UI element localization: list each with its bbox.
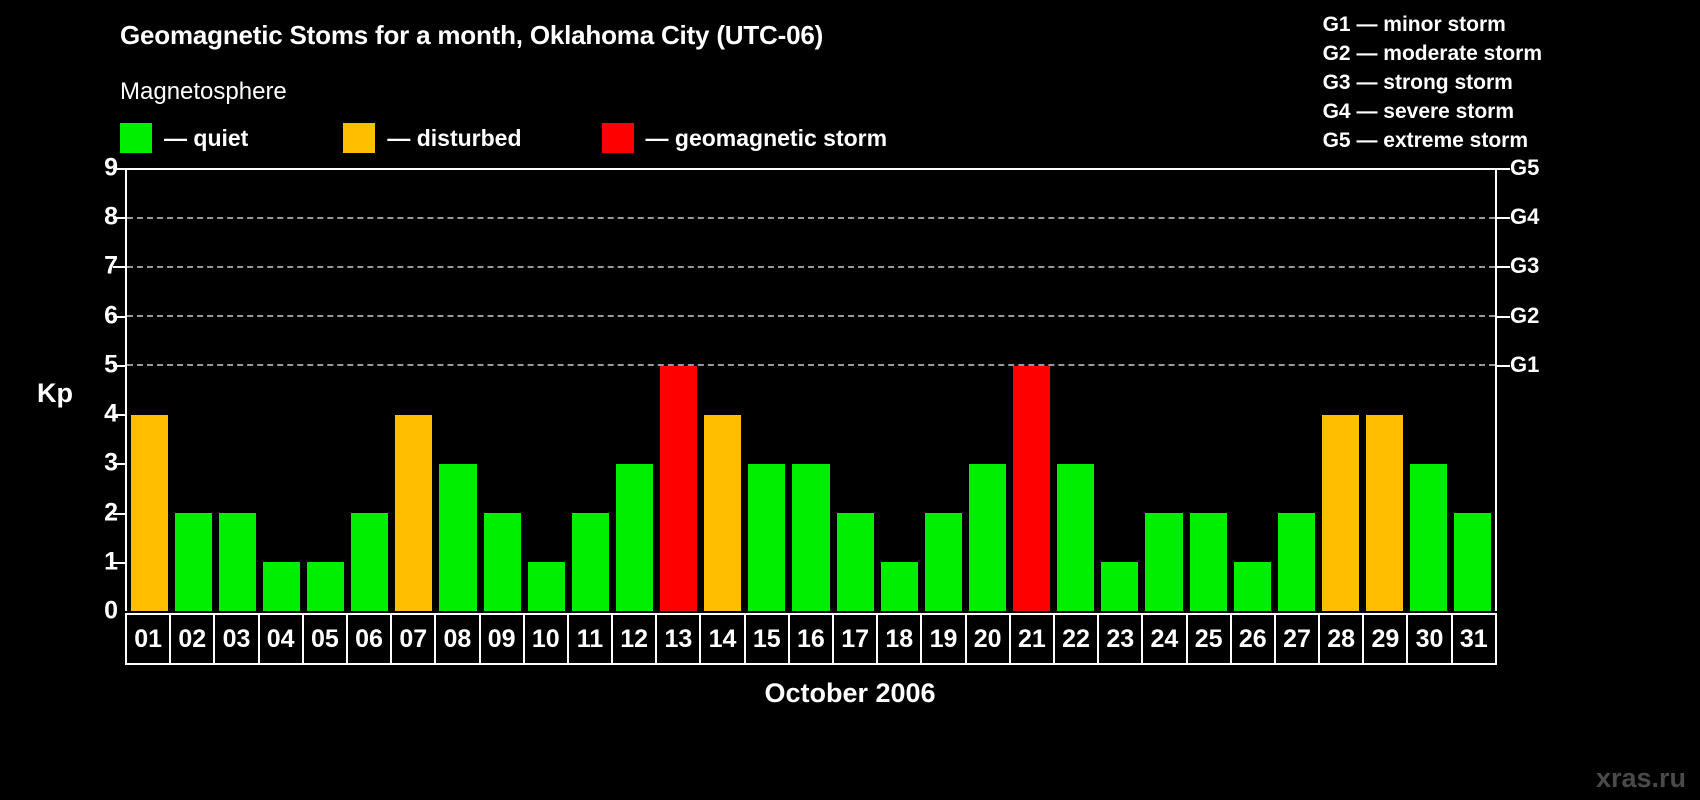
g-scale-legend-row-4: G4 — severe storm (1323, 97, 1542, 126)
g-tick-mark-G4 (1497, 217, 1510, 219)
bar-day-14-disturbed[interactable] (704, 415, 741, 611)
bar-day-30-quiet[interactable] (1410, 464, 1447, 611)
day-label-23[interactable]: 23 (1099, 615, 1143, 663)
color-legend: — quiet— disturbed— geomagnetic storm (120, 122, 887, 154)
bar-day-31-quiet[interactable] (1454, 513, 1491, 611)
y-tick-mark-6 (113, 316, 125, 318)
day-label-29[interactable]: 29 (1364, 615, 1408, 663)
bar-day-21-storm[interactable] (1013, 366, 1050, 611)
day-label-10[interactable]: 10 (525, 615, 569, 663)
bar-slot-day-06[interactable] (348, 170, 392, 611)
bar-day-09-quiet[interactable] (484, 513, 521, 611)
day-label-18[interactable]: 18 (878, 615, 922, 663)
day-label-28[interactable]: 28 (1320, 615, 1364, 663)
day-label-21[interactable]: 21 (1011, 615, 1055, 663)
bars-layer (127, 170, 1495, 611)
day-label-19[interactable]: 19 (922, 615, 966, 663)
bar-slot-day-01[interactable] (127, 170, 171, 611)
page-title: Geomagnetic Stoms for a month, Oklahoma … (120, 20, 823, 51)
bar-slot-day-10[interactable] (524, 170, 568, 611)
g-tick-mark-G2 (1497, 316, 1510, 318)
day-label-09[interactable]: 09 (481, 615, 525, 663)
red-swatch (602, 123, 634, 153)
bar-slot-day-15[interactable] (745, 170, 789, 611)
y-tick-mark-4 (113, 414, 125, 416)
day-label-11[interactable]: 11 (569, 615, 613, 663)
bar-day-12-quiet[interactable] (616, 464, 653, 611)
y-tick-mark-9 (113, 168, 125, 170)
legend-entry-red: — geomagnetic storm (602, 122, 888, 154)
bar-day-04-quiet[interactable] (263, 562, 300, 611)
bar-day-10-quiet[interactable] (528, 562, 565, 611)
g-tick-mark-G5 (1497, 168, 1510, 170)
bar-slot-day-12[interactable] (612, 170, 656, 611)
bar-slot-day-04[interactable] (259, 170, 303, 611)
legend-label: — quiet (164, 125, 248, 152)
bar-day-20-quiet[interactable] (969, 464, 1006, 611)
bar-day-18-quiet[interactable] (881, 562, 918, 611)
g-axis-label-G2: G2 (1510, 305, 1539, 327)
bar-slot-day-18[interactable] (877, 170, 921, 611)
bar-slot-day-31[interactable] (1451, 170, 1495, 611)
watermark: xras.ru (1596, 763, 1686, 794)
day-label-07[interactable]: 07 (392, 615, 436, 663)
green-swatch (120, 123, 152, 153)
bar-day-26-quiet[interactable] (1234, 562, 1271, 611)
legend-entry-orange: — disturbed (343, 122, 521, 154)
bar-slot-day-29[interactable] (1363, 170, 1407, 611)
day-label-08[interactable]: 08 (436, 615, 480, 663)
bar-slot-day-21[interactable] (1010, 170, 1054, 611)
day-label-26[interactable]: 26 (1232, 615, 1276, 663)
bar-slot-day-24[interactable] (1142, 170, 1186, 611)
legend-label: — disturbed (387, 125, 521, 152)
g-scale-legend: G1 — minor stormG2 — moderate stormG3 — … (1323, 10, 1542, 155)
bar-slot-day-02[interactable] (171, 170, 215, 611)
y-tick-mark-7 (113, 266, 125, 268)
bar-day-02-quiet[interactable] (175, 513, 212, 611)
geomagnetic-storm-chart-page: { "header": { "title": "Geomagnetic Stom… (0, 0, 1700, 800)
legend-entry-green: — quiet (120, 122, 248, 154)
day-label-17[interactable]: 17 (834, 615, 878, 663)
bar-day-28-disturbed[interactable] (1322, 415, 1359, 611)
g-axis-label-G1: G1 (1510, 354, 1539, 376)
g-tick-mark-G3 (1497, 266, 1510, 268)
g-scale-legend-row-5: G5 — extreme storm (1323, 126, 1542, 155)
bar-slot-day-23[interactable] (1098, 170, 1142, 611)
g-scale-legend-row-3: G3 — strong storm (1323, 68, 1542, 97)
bar-day-17-quiet[interactable] (837, 513, 874, 611)
g-scale-legend-row-2: G2 — moderate storm (1323, 39, 1542, 68)
bar-slot-day-03[interactable] (215, 170, 259, 611)
day-label-02[interactable]: 02 (171, 615, 215, 663)
day-label-25[interactable]: 25 (1188, 615, 1232, 663)
bar-slot-day-28[interactable] (1318, 170, 1362, 611)
x-axis-day-labels: 0102030405060708091011121314151617181920… (125, 613, 1497, 665)
bar-day-16-quiet[interactable] (792, 464, 829, 611)
day-label-13[interactable]: 13 (657, 615, 701, 663)
bar-day-27-quiet[interactable] (1278, 513, 1315, 611)
bar-slot-day-08[interactable] (436, 170, 480, 611)
y-tick-mark-3 (113, 463, 125, 465)
bar-slot-day-20[interactable] (965, 170, 1009, 611)
g-axis-label-G5: G5 (1510, 157, 1539, 179)
y-axis-title: Kp (37, 378, 73, 409)
bar-day-29-disturbed[interactable] (1366, 415, 1403, 611)
bar-slot-day-13[interactable] (657, 170, 701, 611)
bar-day-07-disturbed[interactable] (395, 415, 432, 611)
bar-day-24-quiet[interactable] (1145, 513, 1182, 611)
bar-slot-day-26[interactable] (1230, 170, 1274, 611)
day-label-20[interactable]: 20 (967, 615, 1011, 663)
y-axis: 9876543210 (78, 168, 118, 611)
y-tick-mark-8 (113, 217, 125, 219)
day-label-24[interactable]: 24 (1143, 615, 1187, 663)
bar-day-11-quiet[interactable] (572, 513, 609, 611)
g-axis-label-G4: G4 (1510, 206, 1539, 228)
bar-slot-day-16[interactable] (789, 170, 833, 611)
bar-slot-day-05[interactable] (304, 170, 348, 611)
day-label-27[interactable]: 27 (1276, 615, 1320, 663)
y-tick-label-0: 0 (104, 599, 118, 624)
bar-slot-day-19[interactable] (921, 170, 965, 611)
legend-heading: Magnetosphere (120, 78, 287, 106)
bar-slot-day-09[interactable] (480, 170, 524, 611)
day-label-22[interactable]: 22 (1055, 615, 1099, 663)
orange-swatch (343, 123, 375, 153)
day-label-04[interactable]: 04 (260, 615, 304, 663)
plot-area (127, 170, 1495, 611)
x-axis-title: October 2006 (0, 678, 1700, 709)
bar-slot-day-30[interactable] (1407, 170, 1451, 611)
g-axis-label-G3: G3 (1510, 255, 1539, 277)
day-label-14[interactable]: 14 (701, 615, 745, 663)
bar-day-22-quiet[interactable] (1057, 464, 1094, 611)
legend-label: — geomagnetic storm (646, 125, 888, 152)
day-label-15[interactable]: 15 (746, 615, 790, 663)
bar-slot-day-11[interactable] (568, 170, 612, 611)
day-label-03[interactable]: 03 (215, 615, 259, 663)
bar-day-03-quiet[interactable] (219, 513, 256, 611)
bar-slot-day-22[interactable] (1054, 170, 1098, 611)
bar-day-01-disturbed[interactable] (131, 415, 168, 611)
bar-slot-day-14[interactable] (701, 170, 745, 611)
bar-day-13-storm[interactable] (660, 366, 697, 611)
bar-day-25-quiet[interactable] (1190, 513, 1227, 611)
bar-day-05-quiet[interactable] (307, 562, 344, 611)
day-label-05[interactable]: 05 (304, 615, 348, 663)
day-label-12[interactable]: 12 (613, 615, 657, 663)
bar-day-19-quiet[interactable] (925, 513, 962, 611)
g-scale-legend-row-1: G1 — minor storm (1323, 10, 1542, 39)
bar-slot-day-17[interactable] (833, 170, 877, 611)
y-tick-mark-2 (113, 513, 125, 515)
day-label-31[interactable]: 31 (1453, 615, 1495, 663)
y-tick-mark-1 (113, 562, 125, 564)
day-label-01[interactable]: 01 (127, 615, 171, 663)
bar-slot-day-25[interactable] (1186, 170, 1230, 611)
bar-day-23-quiet[interactable] (1101, 562, 1138, 611)
bar-day-08-quiet[interactable] (439, 464, 476, 611)
g-tick-mark-G1 (1497, 365, 1510, 367)
g-scale-axis: G5G4G3G2G1 (1510, 168, 1580, 611)
plot-frame (125, 168, 1497, 611)
y-tick-mark-5 (113, 365, 125, 367)
day-label-06[interactable]: 06 (348, 615, 392, 663)
day-label-30[interactable]: 30 (1408, 615, 1452, 663)
day-label-16[interactable]: 16 (790, 615, 834, 663)
bar-day-06-quiet[interactable] (351, 513, 388, 611)
bar-day-15-quiet[interactable] (748, 464, 785, 611)
bar-slot-day-27[interactable] (1274, 170, 1318, 611)
bar-slot-day-07[interactable] (392, 170, 436, 611)
